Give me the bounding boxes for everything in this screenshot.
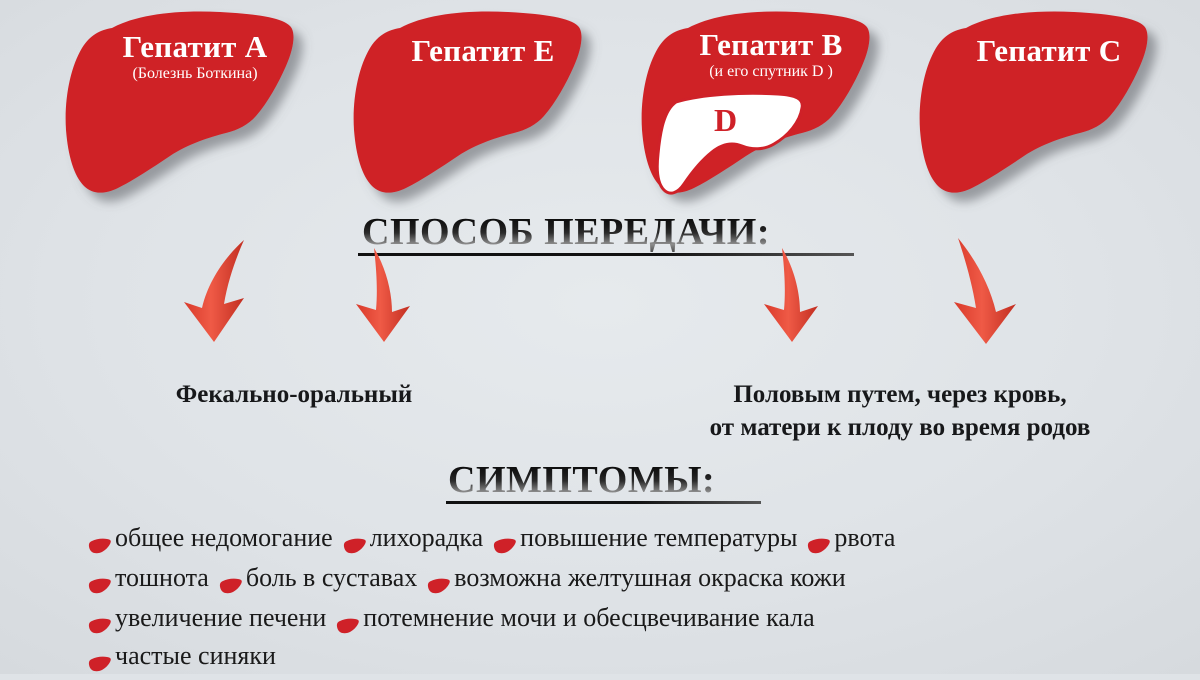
liver-bullet-icon — [807, 532, 831, 549]
liver-shape-a — [60, 4, 330, 204]
arrow-down-hepatitis-a — [178, 236, 268, 346]
symptom-item: возможна желтушная окраска кожи — [427, 563, 845, 593]
transmission-label-line1: Половым путем, через кровь, — [620, 378, 1180, 411]
symptom-line: увеличение печенипотемнение мочи и обесц… — [88, 603, 825, 633]
liver-bullet-icon — [336, 612, 360, 629]
arrow-down-hepatitis-b — [760, 246, 840, 346]
symptom-label: увеличение печени — [115, 603, 326, 633]
infographic-canvas: Гепатит А (Болезнь Боткина) Гепатит Е — [0, 0, 1200, 674]
liver-bullet-icon — [219, 572, 243, 589]
liver-bullet-icon — [427, 572, 451, 589]
arrow-down-hepatitis-e — [352, 246, 432, 346]
symptom-line: частые синяки — [88, 641, 286, 671]
hepatitis-card-b: Гепатит В (и его спутник D ) D — [636, 4, 906, 204]
liver-shape-e — [348, 4, 618, 204]
symptom-item: частые синяки — [88, 641, 276, 671]
symptom-label: лихорадка — [370, 523, 483, 553]
symptom-item: лихорадка — [343, 523, 483, 553]
liver-shape-c — [914, 4, 1184, 204]
symptom-label: потемнение мочи и обесцвечивание кала — [363, 603, 814, 633]
hepatitis-card-a: Гепатит А (Болезнь Боткина) — [60, 4, 330, 204]
liver-shape-b — [636, 4, 906, 204]
symptom-line: общее недомоганиелихорадкаповышение темп… — [88, 523, 905, 553]
symptom-item: боль в суставах — [219, 563, 417, 593]
liver-bullet-icon — [88, 532, 112, 549]
symptom-label: повышение температуры — [520, 523, 797, 553]
symptom-item: тошнота — [88, 563, 209, 593]
liver-bullet-icon — [493, 532, 517, 549]
liver-bullet-icon — [88, 650, 112, 667]
liver-bullet-icon — [88, 612, 112, 629]
symptom-item: потемнение мочи и обесцвечивание кала — [336, 603, 814, 633]
liver-bullet-icon — [343, 532, 367, 549]
symptom-item: рвота — [807, 523, 895, 553]
symptom-label: рвота — [834, 523, 895, 553]
symptom-label: общее недомогание — [115, 523, 333, 553]
transmission-label-blood-sexual: Половым путем, через кровь, от матери к … — [620, 378, 1180, 444]
transmission-label-fecal-oral: Фекально-оральный — [120, 378, 468, 411]
hepatitis-d-letter: D — [714, 102, 737, 139]
hepatitis-card-c: Гепатит С — [914, 4, 1184, 204]
hepatitis-card-e: Гепатит Е — [348, 4, 618, 204]
symptom-label: тошнота — [115, 563, 209, 593]
symptom-item: увеличение печени — [88, 603, 326, 633]
symptoms-heading-rule — [446, 501, 761, 504]
symptom-line: тошнотаболь в суставахвозможна желтушная… — [88, 563, 856, 593]
symptom-label: боль в суставах — [246, 563, 417, 593]
symptoms-heading: СИМПТОМЫ: — [448, 458, 715, 502]
symptom-label: возможна желтушная окраска кожи — [454, 563, 845, 593]
symptom-item: общее недомогание — [88, 523, 333, 553]
liver-bullet-icon — [88, 572, 112, 589]
arrow-down-hepatitis-c — [938, 236, 1028, 346]
symptom-label: частые синяки — [115, 641, 276, 671]
transmission-label-line2: от матери к плоду во время родов — [620, 411, 1180, 444]
symptom-item: повышение температуры — [493, 523, 797, 553]
